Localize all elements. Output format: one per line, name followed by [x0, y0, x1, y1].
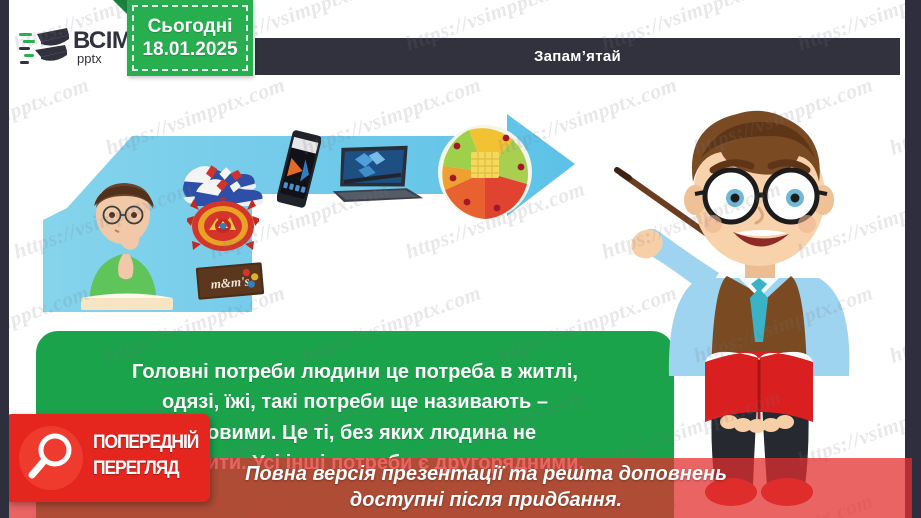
photo-spinner-toy: [187, 198, 259, 254]
magnifier-icon: [19, 426, 83, 490]
page-title: Запам’ятай: [534, 48, 621, 65]
date-badge: Сьогодні 18.01.2025: [127, 0, 253, 76]
date-badge-value: 18.01.2025: [142, 39, 237, 61]
preview-badge-labels: ПОПЕРЕДНІЙ ПЕРЕГЛЯД: [93, 431, 207, 480]
photo-boy-thinking: [65, 180, 185, 310]
date-badge-label: Сьогодні: [148, 16, 233, 38]
preview-badge[interactable]: ПОПЕРЕДНІЙ ПЕРЕГЛЯД: [5, 414, 210, 502]
logo-subtext: pptx: [77, 52, 102, 65]
photo-laptop: [327, 140, 423, 210]
teacher-character: [609, 78, 905, 518]
frame-edge-right: [912, 0, 921, 518]
photo-chocolate: m&m's: [195, 262, 265, 300]
preview-label-line-2: ПЕРЕГЛЯД: [93, 457, 198, 480]
graduation-cap-icon: [19, 26, 71, 70]
logo-wordmark: ВСІМ: [73, 29, 131, 53]
collage-arrow-group: m&m's: [37, 112, 577, 322]
date-badge-inner: Сьогодні 18.01.2025: [132, 5, 248, 71]
main-text-line-1: Головні потреби людини це потреба в житл…: [60, 357, 650, 387]
photo-fruit-platter: [435, 122, 535, 222]
notice-line-2: доступні після придбання.: [350, 488, 622, 514]
brand-logo[interactable]: ВСІМ pptx: [19, 26, 131, 76]
magnifier-icon-backdrop: [19, 426, 83, 490]
preview-label-line-1: ПОПЕРЕДНІЙ: [93, 431, 198, 454]
frame-edge-left: [0, 0, 9, 518]
slide-title-bar: Запам’ятай: [255, 38, 900, 75]
photo-smartphone: [277, 130, 321, 208]
notice-line-1: Повна версія презентації та решта доповн…: [245, 462, 727, 488]
